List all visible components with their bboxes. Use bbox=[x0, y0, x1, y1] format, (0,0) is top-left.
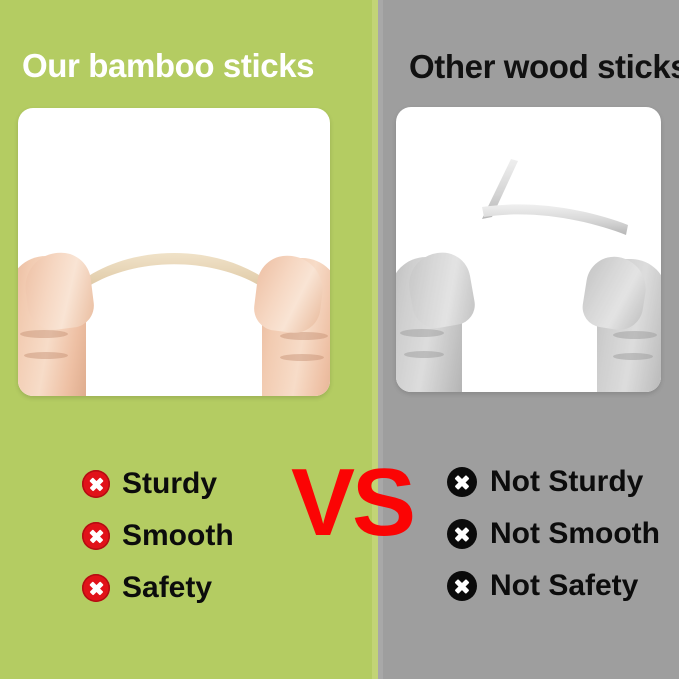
x-circle-icon bbox=[447, 571, 477, 601]
knuckle-crease bbox=[20, 330, 68, 338]
knuckle-crease bbox=[24, 352, 68, 359]
right-panel-title: Other wood sticks bbox=[409, 50, 679, 83]
feature-row: Sturdy bbox=[82, 458, 234, 510]
left-photo-stage bbox=[18, 108, 330, 396]
x-circle-icon bbox=[82, 470, 110, 498]
feature-label: Smooth bbox=[122, 521, 234, 551]
right-feature-list: Not Sturdy Not Smooth Not Safety bbox=[447, 456, 660, 612]
knuckle-crease bbox=[613, 331, 657, 339]
feature-row: Not Sturdy bbox=[447, 456, 660, 508]
feature-label: Not Sturdy bbox=[490, 467, 643, 497]
knuckle-crease bbox=[404, 351, 444, 358]
left-panel-title: Our bamboo sticks bbox=[22, 49, 314, 82]
right-edge-strip bbox=[378, 0, 383, 679]
feature-label: Not Safety bbox=[490, 571, 638, 601]
knuckle-crease bbox=[400, 329, 444, 337]
vs-label: VS bbox=[291, 455, 413, 551]
feature-row: Not Smooth bbox=[447, 508, 660, 560]
feature-label: Safety bbox=[122, 573, 212, 603]
x-circle-icon bbox=[82, 522, 110, 550]
x-circle-icon bbox=[82, 574, 110, 602]
right-product-photo-card bbox=[396, 107, 661, 392]
left-feature-list: Sturdy Smooth Safety bbox=[82, 458, 234, 614]
knuckle-crease bbox=[280, 332, 328, 340]
feature-label: Not Smooth bbox=[490, 519, 660, 549]
x-circle-icon bbox=[447, 519, 477, 549]
feature-label: Sturdy bbox=[122, 469, 217, 499]
comparison-graphic: Our bamboo sticks Other wood sticks bbox=[0, 0, 679, 679]
x-circle-icon bbox=[447, 467, 477, 497]
knuckle-crease bbox=[280, 354, 324, 361]
left-product-photo-card bbox=[18, 108, 330, 396]
feature-row: Smooth bbox=[82, 510, 234, 562]
right-photo-stage bbox=[396, 107, 661, 392]
feature-row: Not Safety bbox=[447, 560, 660, 612]
feature-row: Safety bbox=[82, 562, 234, 614]
knuckle-crease bbox=[613, 353, 653, 360]
